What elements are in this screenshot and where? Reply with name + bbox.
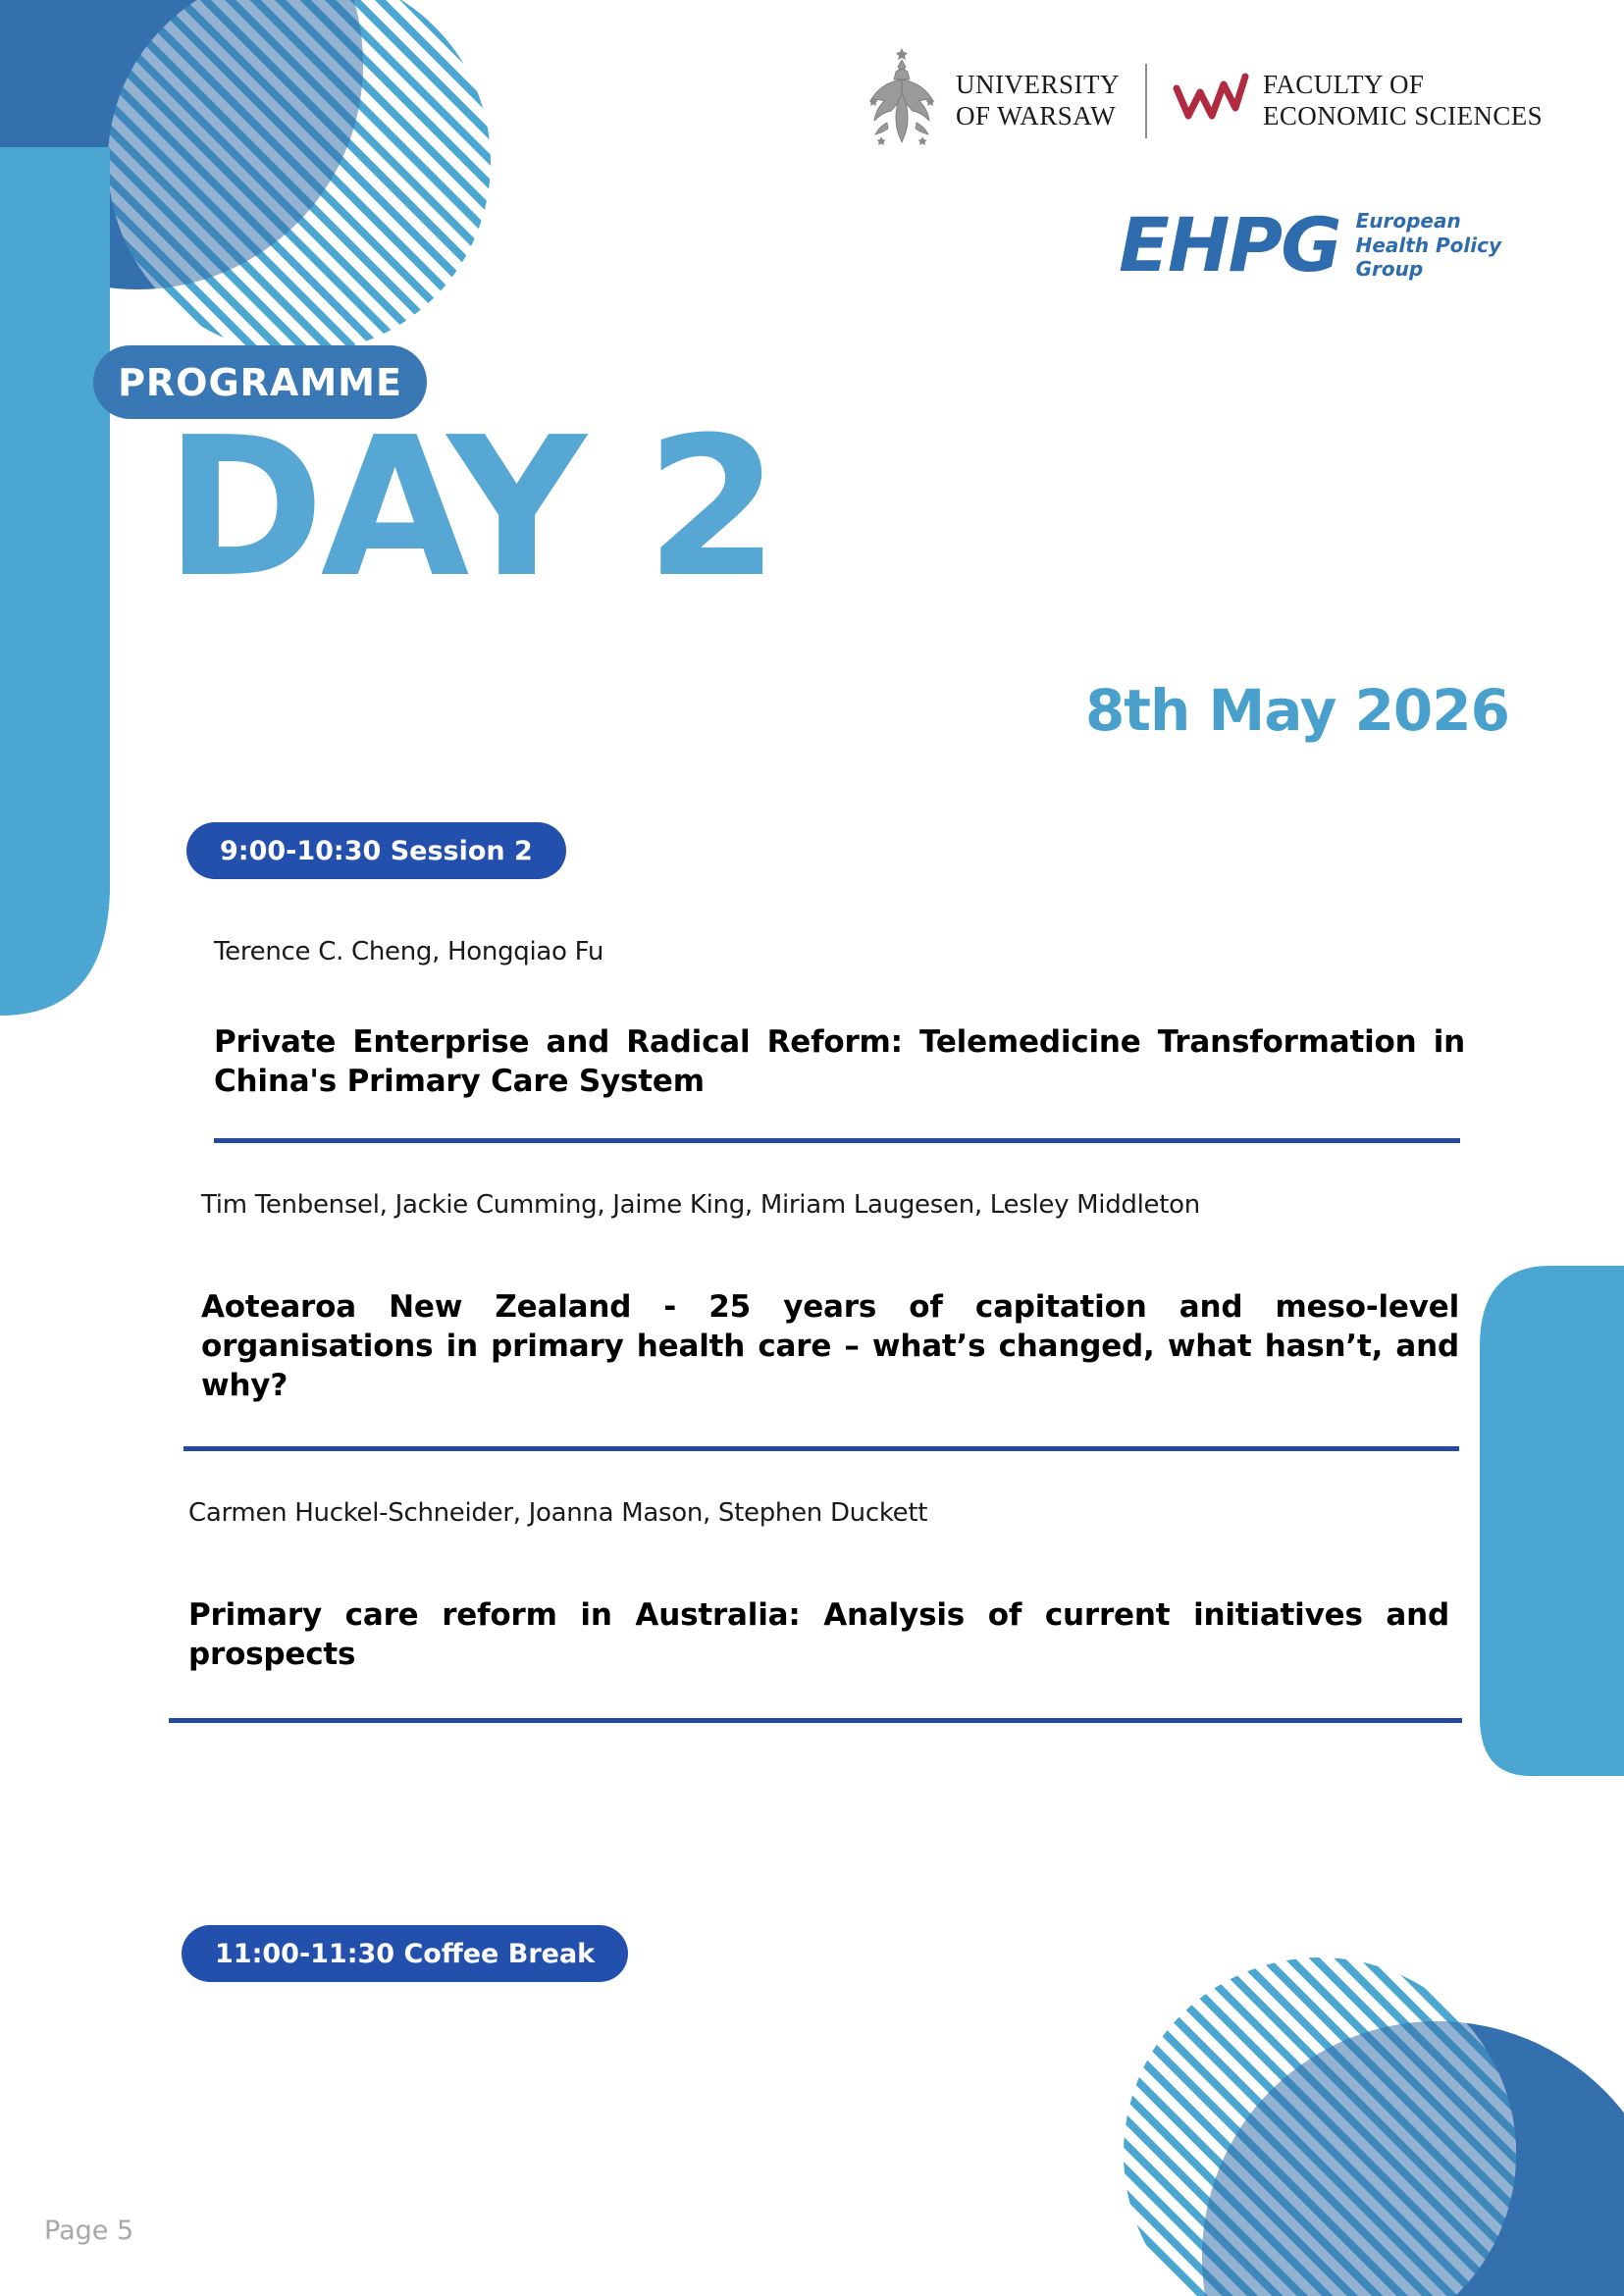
decor-circle-solid-bottom [1202,2021,1624,2296]
faculty-wordmark: FACULTY OF ECONOMIC SCIENCES [1263,70,1543,132]
decor-circle-striped-bottom [1124,1957,1516,2296]
programme-entries: Terence C. Cheng, Hongqiao Fu Private En… [0,937,1624,1723]
header-logos: UNIVERSITY OF WARSAW FACULTY OF ECONOMIC… [864,37,1590,165]
ehpg-mark: EHPG [1119,208,1340,283]
session-badge-label: 9:00-10:30 Session 2 [220,836,533,866]
event-date: 8th May 2026 [0,677,1509,744]
programme-entry: Terence C. Cheng, Hongqiao Fu Private En… [0,937,1624,1143]
faculty-zigzag-mark-icon [1173,71,1249,131]
entry-title: Private Enterprise and Radical Reform: T… [214,1023,1465,1101]
logo-separator [1145,64,1147,138]
university-of-warsaw-wordmark: UNIVERSITY OF WARSAW [956,70,1120,132]
entry-divider [183,1446,1459,1451]
session-badge-label: 11:00-11:30 Coffee Break [215,1939,595,1969]
session-badge-coffee-break: 11:00-11:30 Coffee Break [182,1925,628,1982]
programme-entry: Tim Tenbensel, Jackie Cumming, Jaime Kin… [0,1190,1624,1451]
faculty-of-economic-sciences-logo: FACULTY OF ECONOMIC SCIENCES [1173,70,1543,132]
page-number: Page 5 [44,2216,133,2246]
decor-circle-striped-top [108,0,491,353]
programme-entry: Carmen Huckel-Schneider, Joanna Mason, S… [0,1498,1624,1722]
session-badge-session-2: 9:00-10:30 Session 2 [186,822,566,879]
ehpg-line-3: Group [1356,257,1501,281]
uw-line-1: UNIVERSITY [956,70,1120,101]
university-of-warsaw-eagle-emblem-icon [864,46,940,156]
ehpg-line-2: Health Policy [1356,234,1501,257]
entry-authors: Terence C. Cheng, Hongqiao Fu [214,937,1465,966]
decor-circle-solid-top [0,0,363,289]
entry-authors: Tim Tenbensel, Jackie Cumming, Jaime Kin… [201,1190,1459,1220]
university-of-warsaw-logo: UNIVERSITY OF WARSAW [864,46,1120,156]
uw-line-2: OF WARSAW [956,101,1120,132]
entry-title: Aotearoa New Zealand - 25 years of capit… [201,1288,1459,1405]
entry-title: Primary care reform in Australia: Analys… [188,1596,1449,1674]
ehpg-subtitle: European Health Policy Group [1356,209,1501,281]
page-title: DAY 2 [165,412,775,604]
entry-divider [214,1138,1460,1143]
fes-line-1: FACULTY OF [1263,70,1543,101]
ehpg-logo: EHPG European Health Policy Group [1119,208,1501,283]
entry-divider [169,1718,1462,1723]
ehpg-line-1: European [1356,209,1501,233]
decor-left-bar [0,147,110,1016]
fes-line-2: ECONOMIC SCIENCES [1263,101,1543,132]
entry-authors: Carmen Huckel-Schneider, Joanna Mason, S… [188,1498,1449,1528]
